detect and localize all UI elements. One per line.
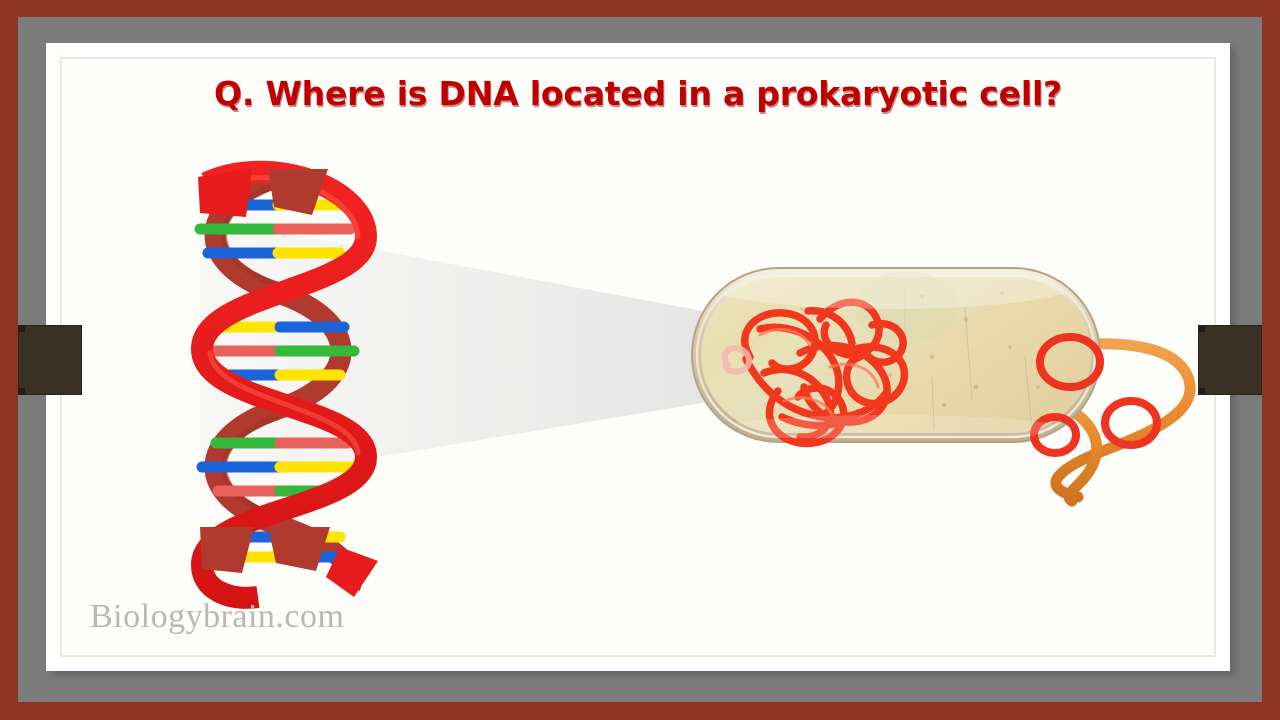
page-title: Q. Where is DNA located in a prokaryotic… (60, 74, 1216, 113)
slide-outer-frame: Q. Where is DNA located in a prokaryotic… (0, 0, 1280, 720)
panel-inner-border (60, 57, 1216, 657)
right-binder-tab (1199, 326, 1261, 394)
watermark-text: Biologybrain.com (90, 598, 344, 636)
left-binder-tab (19, 326, 81, 394)
